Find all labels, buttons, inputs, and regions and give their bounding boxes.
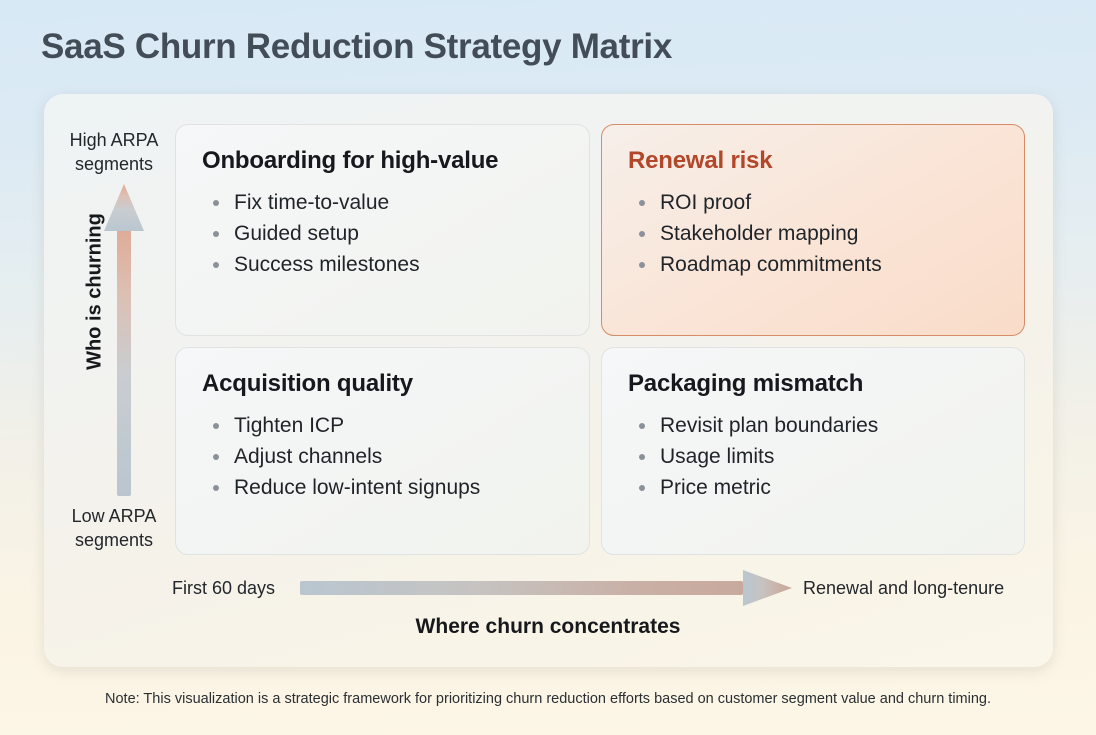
list-item: Reduce low-intent signups [202, 472, 563, 503]
quadrant-title: Renewal risk [628, 147, 998, 175]
list-item: Fix time-to-value [202, 187, 563, 218]
quadrant-bullet-list: ROI proof Stakeholder mapping Roadmap co… [628, 187, 998, 280]
y-axis-title: Who is churning [84, 192, 107, 392]
x-axis-title: Where churn concentrates [0, 615, 1096, 639]
quadrant-bullet-list: Fix time-to-value Guided setup Success m… [202, 187, 563, 280]
y-axis-low-label: Low ARPA segments [58, 504, 170, 552]
x-axis-right-label: Renewal and long-tenure [803, 578, 1004, 599]
list-item: Adjust channels [202, 441, 563, 472]
x-axis-arrow-icon [300, 570, 792, 606]
y-axis-arrow-icon [104, 184, 144, 496]
quadrant-bullet-list: Revisit plan boundaries Usage limits Pri… [628, 410, 998, 503]
list-item: Roadmap commitments [628, 249, 998, 280]
y-axis-high-label-line1: High ARPA [58, 128, 170, 152]
list-item: Tighten ICP [202, 410, 563, 441]
page-title: SaaS Churn Reduction Strategy Matrix [41, 27, 672, 67]
y-axis-low-label-line1: Low ARPA [58, 504, 170, 528]
quadrant-title: Onboarding for high-value [202, 147, 563, 175]
quadrant-card-bottom-right[interactable]: Packaging mismatch Revisit plan boundari… [601, 347, 1025, 555]
matrix-page: SaaS Churn Reduction Strategy Matrix Hig… [0, 0, 1096, 735]
y-axis-high-label-line2: segments [58, 152, 170, 176]
list-item: Usage limits [628, 441, 998, 472]
list-item: Guided setup [202, 218, 563, 249]
quadrant-card-top-left[interactable]: Onboarding for high-value Fix time-to-va… [175, 124, 590, 336]
quadrant-card-top-right[interactable]: Renewal risk ROI proof Stakeholder mappi… [601, 124, 1025, 336]
x-axis-left-label: First 60 days [172, 578, 275, 599]
y-axis-high-label: High ARPA segments [58, 128, 170, 176]
y-axis-low-label-line2: segments [58, 528, 170, 552]
quadrant-bullet-list: Tighten ICP Adjust channels Reduce low-i… [202, 410, 563, 503]
list-item: Success milestones [202, 249, 563, 280]
quadrant-title: Acquisition quality [202, 370, 563, 398]
list-item: Price metric [628, 472, 998, 503]
list-item: Stakeholder mapping [628, 218, 998, 249]
quadrant-title: Packaging mismatch [628, 370, 998, 398]
list-item: ROI proof [628, 187, 998, 218]
quadrant-card-bottom-left[interactable]: Acquisition quality Tighten ICP Adjust c… [175, 347, 590, 555]
list-item: Revisit plan boundaries [628, 410, 998, 441]
footer-note: Note: This visualization is a strategic … [0, 691, 1096, 707]
